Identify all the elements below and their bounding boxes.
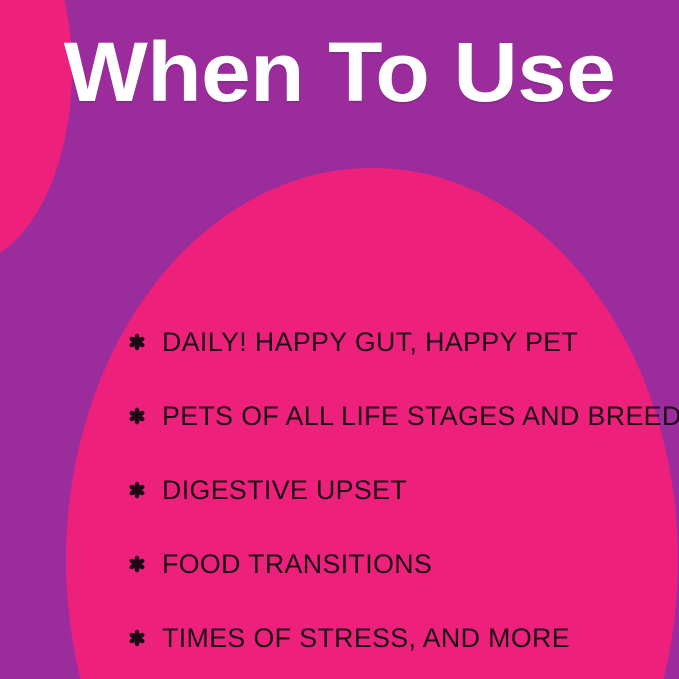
list-item: DIGESTIVE UPSET [128,453,668,527]
promo-card: When To Use DAILY! HAPPY GUT, HAPPY PET [0,0,679,679]
floral-asterisk-icon [128,407,146,425]
list-item: PETS OF ALL LIFE STAGES AND BREEDS [128,379,668,453]
floral-asterisk-icon [128,555,146,573]
page-title: When To Use [0,26,679,118]
list-item-label: DAILY! HAPPY GUT, HAPPY PET [162,327,578,357]
list-item-label: DIGESTIVE UPSET [162,475,407,505]
floral-asterisk-icon [128,333,146,351]
floral-asterisk-icon [128,481,146,499]
list-item: FOOD TRANSITIONS [128,527,668,601]
list-item: DAILY! HAPPY GUT, HAPPY PET [128,305,668,379]
list-item-label: FOOD TRANSITIONS [162,549,432,579]
list-item: TIMES OF STRESS, AND MORE [128,601,668,675]
usage-list: DAILY! HAPPY GUT, HAPPY PET PETS OF ALL … [128,305,668,675]
list-item-label: TIMES OF STRESS, AND MORE [162,623,570,653]
list-item-label: PETS OF ALL LIFE STAGES AND BREEDS [162,401,679,431]
floral-asterisk-icon [128,629,146,647]
